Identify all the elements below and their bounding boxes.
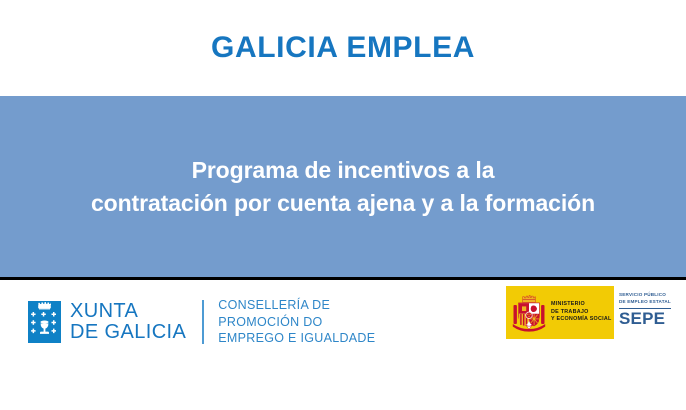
ministerio-line-1: MINISTERIO: [551, 301, 612, 309]
xunta-emblem-icon: [28, 301, 61, 343]
spain-coat-of-arms-icon: [512, 293, 546, 333]
footer-logos: XUNTA DE GALICIA CONSELLERÍA DE PROMOCIÓ…: [0, 280, 686, 407]
sepe-subtitle-line-1: SERVICIO PÚBLICO: [619, 292, 675, 299]
xunta-wordmark-line-1: XUNTA: [70, 301, 186, 322]
sepe-logo: SERVICIO PÚBLICO DE EMPLEO ESTATAL SEPE: [614, 286, 679, 339]
banner-text: Programa de incentivos a la contratación…: [91, 154, 595, 219]
program-banner: Programa de incentivos a la contratación…: [0, 96, 686, 280]
sepe-wordmark: SEPE: [619, 310, 675, 327]
ministerio-text: MINISTERIO DE TRABAJO Y ECONOMÍA SOCIAL: [551, 301, 612, 324]
xunta-wordmark-line-2: DE GALICIA: [70, 322, 186, 343]
footer-divider: [202, 300, 204, 344]
sepe-subtitle-line-2: DE EMPLEO ESTATAL: [619, 299, 675, 306]
header-title-zone: GALICIA EMPLEA: [0, 0, 686, 96]
xunta-wordmark: XUNTA DE GALICIA: [70, 301, 186, 343]
conselleria-line-3: EMPREGO E IGUALDADE: [218, 330, 375, 347]
conselleria-line-2: PROMOCIÓN DO: [218, 314, 375, 331]
banner-line-2: contratación por cuenta ajena y a la for…: [91, 187, 595, 220]
ministerio-trabajo-logo: MINISTERIO DE TRABAJO Y ECONOMÍA SOCIAL: [506, 286, 614, 339]
sepe-subtitle: SERVICIO PÚBLICO DE EMPLEO ESTATAL: [619, 292, 675, 306]
banner-line-1: Programa de incentivos a la: [91, 154, 595, 187]
xunta-de-galicia-logo: XUNTA DE GALICIA CONSELLERÍA DE PROMOCIÓ…: [28, 297, 375, 347]
ministerio-line-3: Y ECONOMÍA SOCIAL: [551, 316, 612, 324]
page-title: GALICIA EMPLEA: [211, 33, 475, 63]
conselleria-line-1: CONSELLERÍA DE: [218, 297, 375, 314]
government-logos: MINISTERIO DE TRABAJO Y ECONOMÍA SOCIAL …: [506, 286, 679, 339]
conselleria-text: CONSELLERÍA DE PROMOCIÓN DO EMPREGO E IG…: [218, 297, 375, 347]
